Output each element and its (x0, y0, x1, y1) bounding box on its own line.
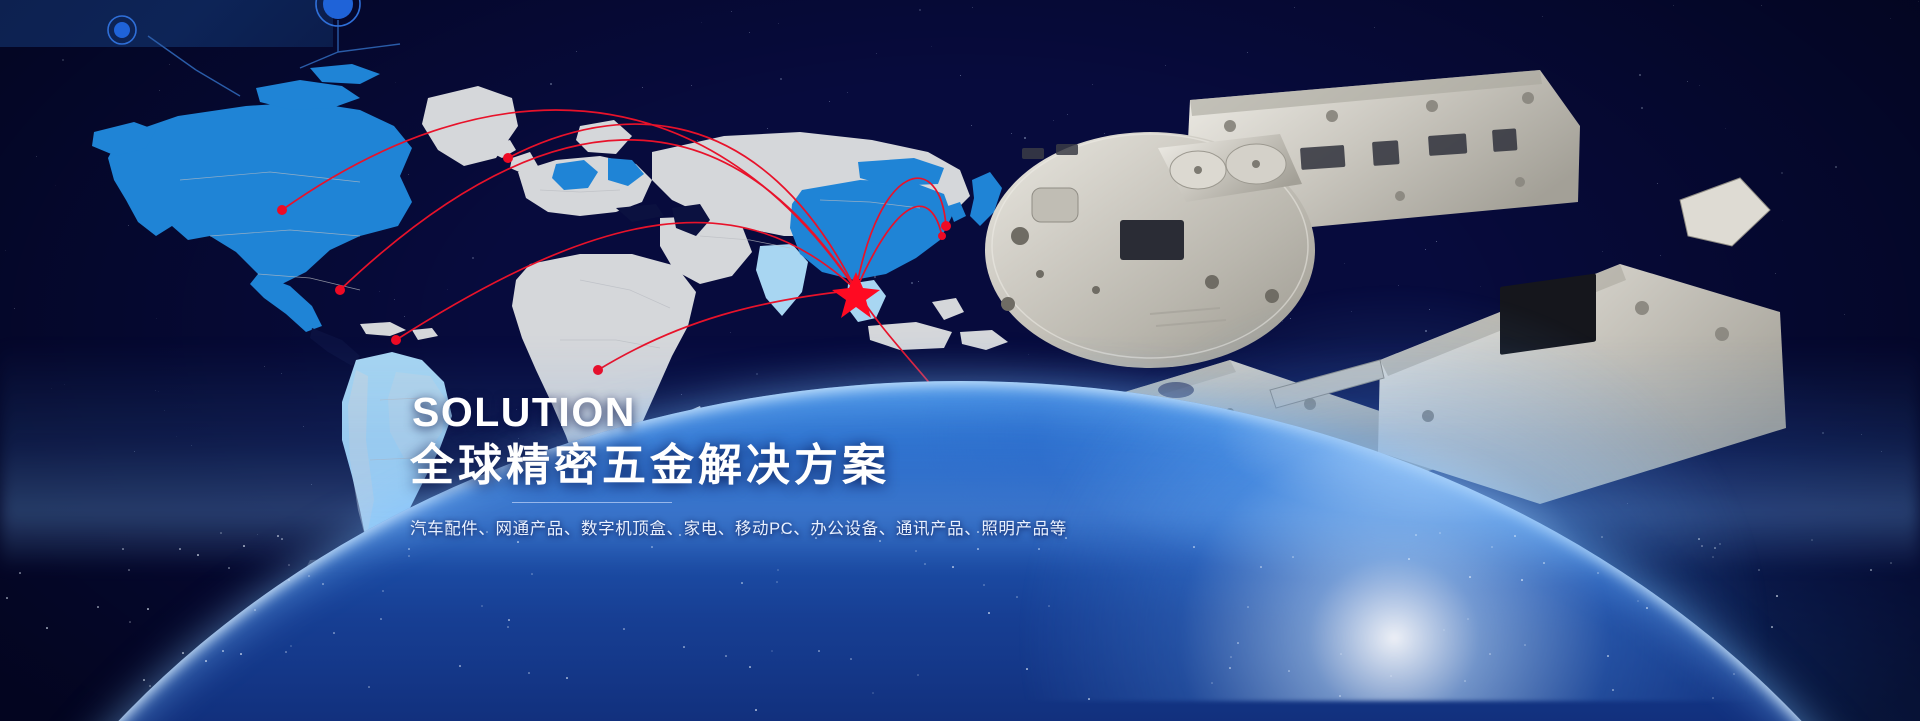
hero-headline: 全球精密五金解决方案 (410, 441, 1050, 490)
hero-kicker: SOLUTION (412, 392, 1050, 433)
hero-subline: 汽车配件、网通产品、数字机顶盒、家电、移动PC、办公设备、通讯产品、照明产品等 (410, 515, 1050, 539)
network-node-icon (108, 16, 136, 44)
network-node-panel (0, 0, 333, 47)
hero-copy: SOLUTION 全球精密五金解决方案 汽车配件、网通产品、数字机顶盒、家电、移… (410, 392, 1050, 539)
city-lights (0, 531, 1920, 721)
hero-banner: SOLUTION 全球精密五金解决方案 汽车配件、网通产品、数字机顶盒、家电、移… (0, 0, 1920, 721)
headline-divider (512, 502, 672, 503)
